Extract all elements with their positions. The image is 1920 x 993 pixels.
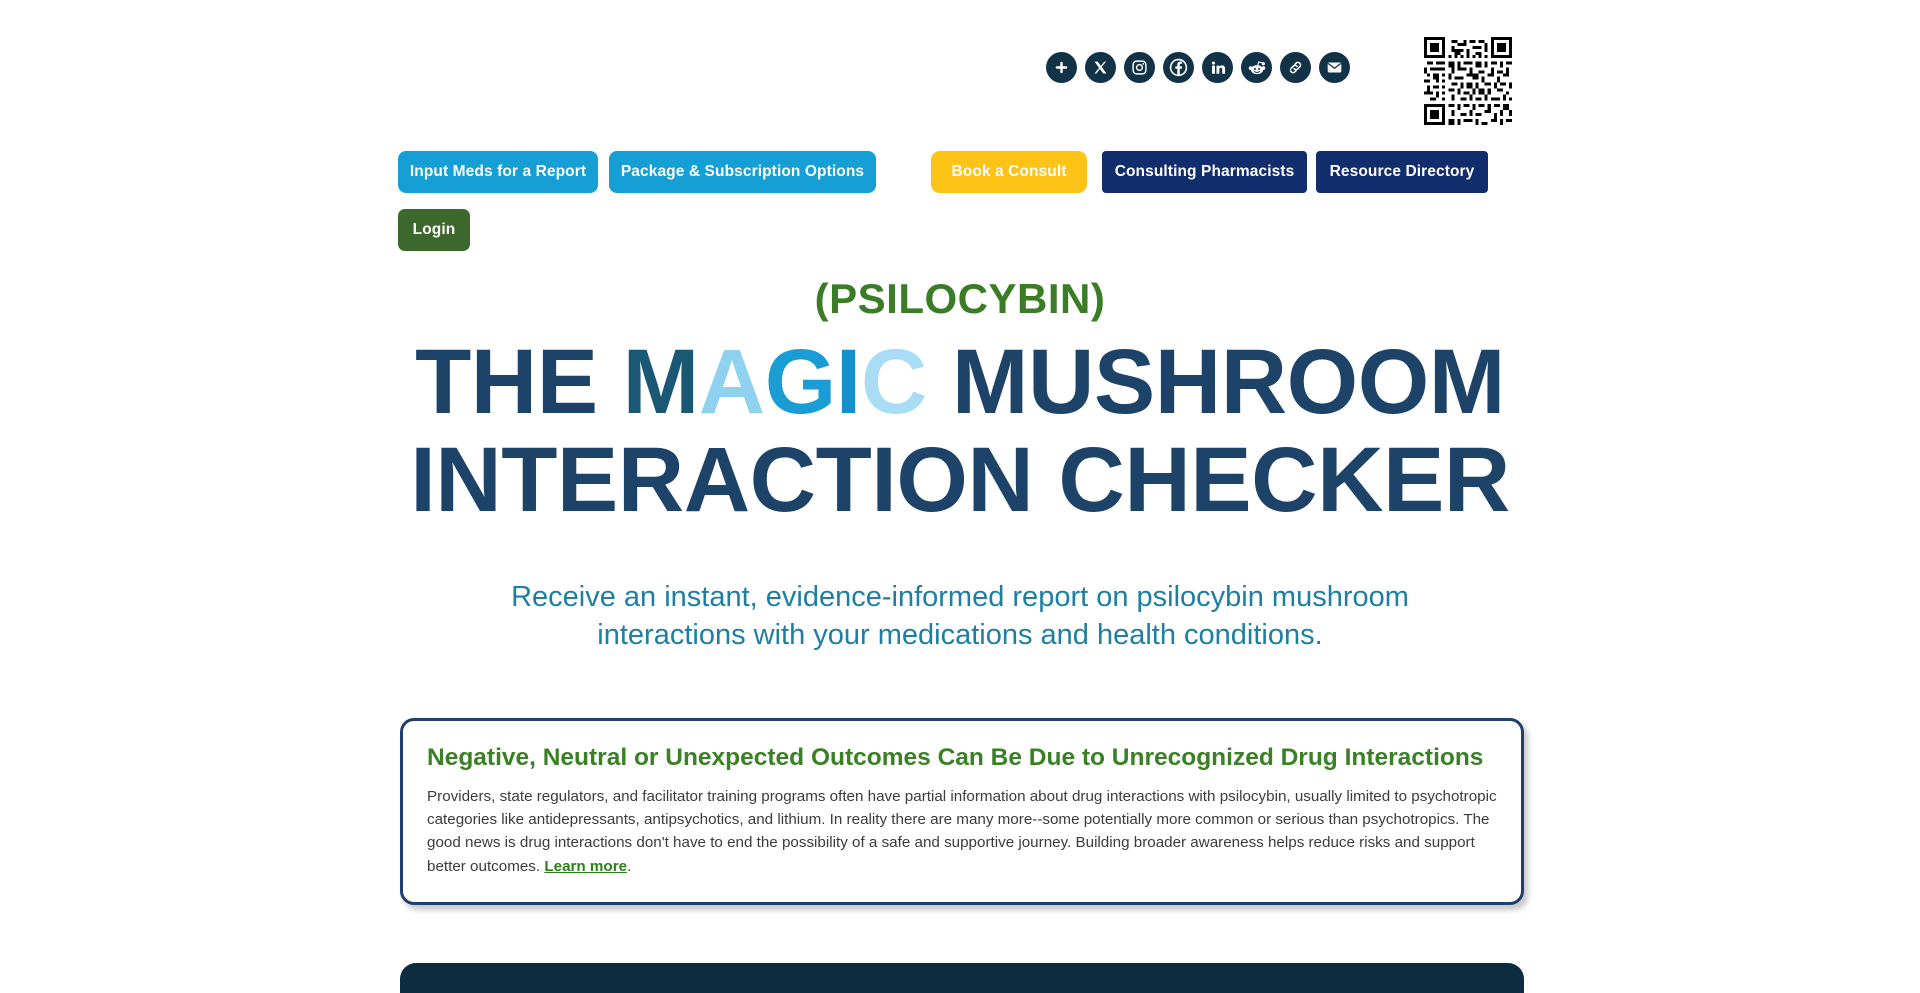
qr-code[interactable] bbox=[1424, 37, 1512, 125]
bottom-dark-panel bbox=[400, 963, 1524, 993]
headline-letter-i: I bbox=[836, 331, 861, 433]
x-twitter-icon[interactable] bbox=[1085, 52, 1116, 83]
social-share-bar bbox=[1046, 52, 1350, 83]
headline-letter-c: C bbox=[861, 331, 927, 433]
callout-body-period: . bbox=[627, 858, 631, 875]
callout-card: Negative, Neutral or Unexpected Outcomes… bbox=[400, 718, 1524, 905]
consulting-pharmacists-button[interactable]: Consulting Pharmacists bbox=[1102, 151, 1307, 193]
headline-letter-a: A bbox=[699, 331, 765, 433]
book-consult-button[interactable]: Book a Consult bbox=[931, 151, 1087, 193]
hero-subtitle: Receive an instant, evidence-informed re… bbox=[440, 578, 1480, 655]
headline-the: THE bbox=[415, 331, 623, 433]
linkedin-icon[interactable] bbox=[1202, 52, 1233, 83]
copy-link-icon[interactable] bbox=[1280, 52, 1311, 83]
linkedin-glyph bbox=[1210, 60, 1226, 76]
reddit-glyph bbox=[1248, 59, 1266, 77]
email-icon[interactable] bbox=[1319, 52, 1350, 83]
input-meds-button[interactable]: Input Meds for a Report bbox=[398, 151, 598, 193]
facebook-icon[interactable] bbox=[1163, 52, 1194, 83]
hero-section: (PSILOCYBIN) THE MAGIC MUSHROOM INTERACT… bbox=[0, 278, 1920, 529]
instagram-glyph bbox=[1131, 59, 1148, 76]
top-bar bbox=[0, 25, 1920, 120]
headline-line-two: INTERACTION CHECKER bbox=[0, 432, 1920, 530]
page-root: Input Meds for a Report Package & Subscr… bbox=[0, 0, 1920, 993]
email-glyph bbox=[1326, 59, 1343, 76]
facebook-glyph bbox=[1169, 58, 1188, 77]
hero-headline: THE MAGIC MUSHROOM INTERACTION CHECKER bbox=[0, 334, 1920, 529]
share-plus-glyph bbox=[1053, 59, 1070, 76]
headline-letter-m: M bbox=[623, 331, 699, 433]
resource-directory-button[interactable]: Resource Directory bbox=[1316, 151, 1488, 193]
callout-title: Negative, Neutral or Unexpected Outcomes… bbox=[427, 743, 1497, 773]
share-plus-icon[interactable] bbox=[1046, 52, 1077, 83]
x-twitter-glyph bbox=[1093, 60, 1108, 75]
package-subscription-button[interactable]: Package & Subscription Options bbox=[609, 151, 876, 193]
callout-body: Providers, state regulators, and facilit… bbox=[427, 785, 1497, 878]
instagram-icon[interactable] bbox=[1124, 52, 1155, 83]
reddit-icon[interactable] bbox=[1241, 52, 1272, 83]
hero-kicker: (PSILOCYBIN) bbox=[0, 278, 1920, 320]
qr-code-glyph bbox=[1424, 37, 1512, 125]
headline-mushroom: MUSHROOM bbox=[927, 331, 1505, 433]
learn-more-link[interactable]: Learn more bbox=[544, 858, 627, 875]
headline-letter-g: G bbox=[765, 331, 836, 433]
login-button[interactable]: Login bbox=[398, 209, 470, 251]
copy-link-glyph bbox=[1287, 59, 1304, 76]
